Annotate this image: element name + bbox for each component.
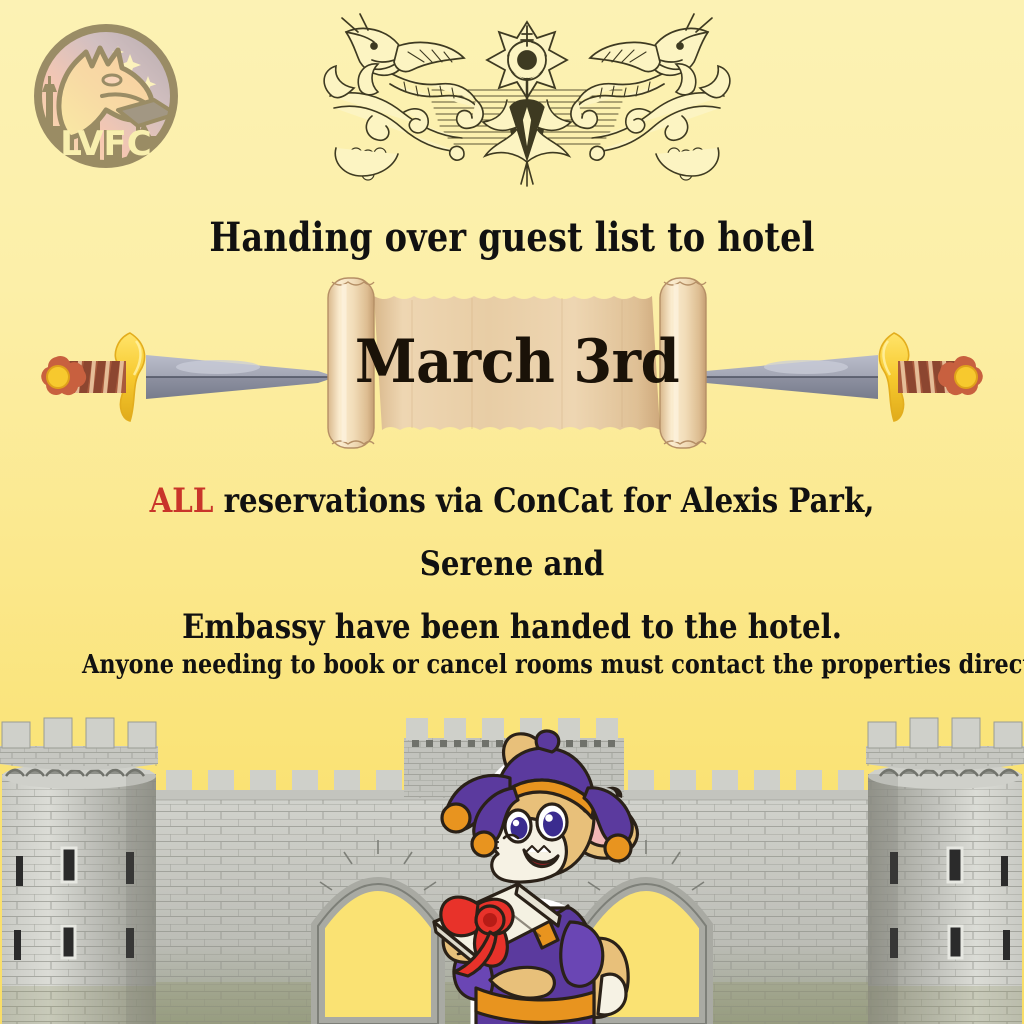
victorian-dragon-flourish-icon <box>312 4 742 189</box>
parchment-scroll: March 3rd <box>322 272 712 454</box>
body-copy: ALL reservations via ConCat for Alexis P… <box>108 470 916 659</box>
dagger-right-icon <box>676 325 1006 430</box>
note-emphasis-must: must <box>601 650 664 680</box>
note-before: Anyone needing to book or cancel rooms <box>82 650 601 680</box>
lvfc-logo: LVFC <box>26 18 186 180</box>
note-line: Anyone needing to book or cancel rooms m… <box>82 650 942 680</box>
castle-tower-right <box>866 718 1024 1024</box>
castle-tower-left <box>0 718 158 1024</box>
logo-text: LVFC <box>60 124 151 164</box>
note-after: contact the properties directly. <box>663 650 1024 680</box>
body-emphasis-all: ALL <box>150 481 214 521</box>
body-line-1: ALL reservations via ConCat for Alexis P… <box>108 470 916 596</box>
scroll-date-text: March 3rd <box>336 272 699 454</box>
body-line-1-rest: reservations via ConCat for Alexis Park,… <box>213 481 874 584</box>
dagger-left-icon <box>18 325 348 430</box>
page-title: Handing over guest list to hotel <box>82 214 942 261</box>
poster-canvas: LVFC <box>0 0 1024 1024</box>
jester-fox-mascot <box>392 726 644 1024</box>
